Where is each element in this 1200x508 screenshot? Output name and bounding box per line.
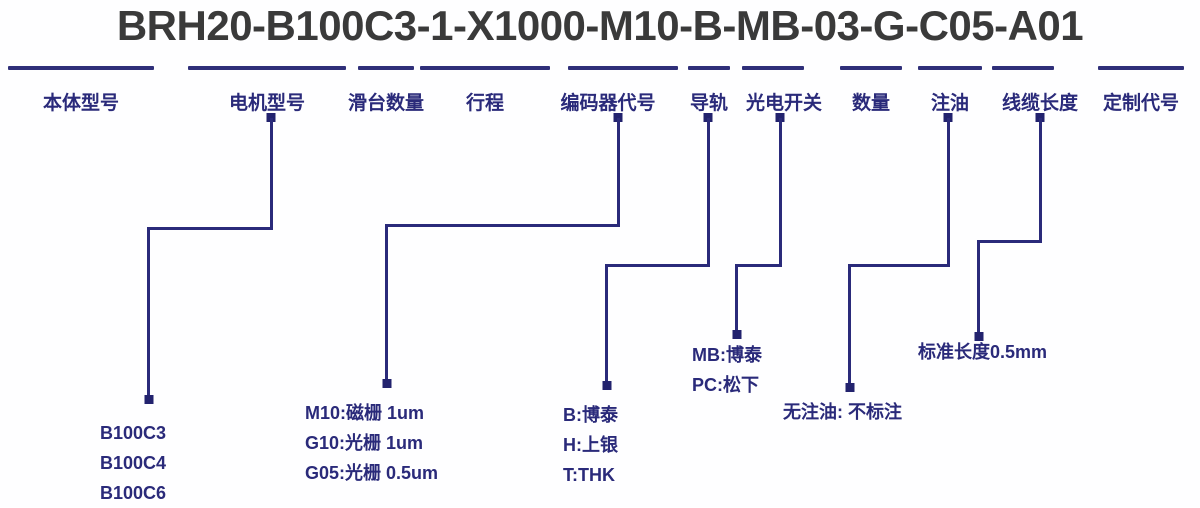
leader-motor-model-v2	[147, 227, 150, 400]
encoder-code-option-3: T:THK	[563, 460, 618, 490]
leader-rail-h1	[605, 264, 710, 267]
motor-model-option-1: M10:磁栅 1um	[305, 398, 438, 428]
body-model-option-1: B100C3	[100, 418, 166, 448]
leader-motor-model-h1	[147, 227, 273, 230]
model-number-breakdown-diagram: BRH20-B100C3-1-X1000-M10-B-MB-03-G-C05-A…	[0, 0, 1200, 507]
encoder-code-option-2: H:上银	[563, 430, 618, 460]
leader-cable-h1	[977, 240, 1042, 243]
leader-photo-h1	[735, 264, 782, 267]
rule-oiling	[918, 66, 982, 70]
group-label-quantity: 数量	[852, 88, 890, 115]
rule-body-model	[8, 66, 154, 70]
rule-encoder-code	[568, 66, 678, 70]
leader-encoder-h1	[385, 224, 620, 227]
group-label-oiling: 注油	[931, 88, 969, 115]
rule-custom-code	[1098, 66, 1184, 70]
motor-model-option-2: G10:光栅 1um	[305, 428, 438, 458]
rule-quantity	[840, 66, 902, 70]
leader-cap-encoder-end	[383, 379, 392, 388]
description-photo-switch: 无注油: 不标注	[783, 397, 902, 427]
body-model-option-2: B100C4	[100, 448, 166, 478]
description-encoder-code: B:博泰 H:上银 T:THK	[563, 400, 618, 490]
leader-cap-motor-model-end	[145, 395, 154, 404]
group-label-encoder-code: 编码器代号	[560, 88, 655, 115]
group-label-custom-code: 定制代号	[1103, 88, 1179, 115]
rule-cable-length	[992, 66, 1054, 70]
description-guide-rail: MB:博泰 PC:松下	[692, 340, 762, 400]
rule-photo-switch	[742, 66, 804, 70]
encoder-code-option-1: B:博泰	[563, 400, 618, 430]
rule-stroke	[420, 66, 550, 70]
leader-oiling-h1	[848, 264, 950, 267]
motor-model-option-3: G05:光栅 0.5um	[305, 458, 438, 488]
rule-motor-model	[188, 66, 346, 70]
photo-switch-note: 无注油: 不标注	[783, 397, 902, 427]
description-motor-model: M10:磁栅 1um G10:光栅 1um G05:光栅 0.5um	[305, 398, 438, 488]
leader-photo-v2	[735, 264, 738, 332]
group-label-cable-length: 线缆长度	[1002, 88, 1078, 115]
group-label-motor-model: 电机型号	[229, 88, 305, 115]
group-label-guide-rail: 导轨	[690, 88, 728, 115]
leader-cap-oiling-end	[846, 383, 855, 392]
leader-encoder-v1	[617, 118, 620, 226]
rule-guide-rail	[688, 66, 730, 70]
leader-rail-v2	[605, 264, 608, 385]
rule-slide-count	[358, 66, 414, 70]
cable-length-note: 标准长度0.5mm	[918, 337, 1047, 367]
leader-motor-model-v1	[270, 118, 273, 229]
group-label-photo-switch: 光电开关	[746, 88, 822, 115]
leader-oiling-v2	[848, 264, 851, 386]
model-number-title: BRH20-B100C3-1-X1000-M10-B-MB-03-G-C05-A…	[0, 2, 1200, 50]
leader-rail-v1	[707, 118, 710, 266]
guide-rail-option-1: MB:博泰	[692, 340, 762, 370]
leader-cap-photo-end	[733, 330, 742, 339]
leader-cable-v1	[1039, 118, 1042, 242]
description-cable-length: 标准长度0.5mm	[918, 337, 1047, 367]
leader-cable-v2	[977, 240, 980, 335]
leader-cap-rail-end	[603, 381, 612, 390]
body-model-option-3: B100C6	[100, 478, 166, 508]
description-body-model: B100C3 B100C4 B100C6	[100, 418, 166, 508]
group-label-slide-count: 滑台数量	[348, 88, 424, 115]
leader-photo-v1	[779, 118, 782, 266]
guide-rail-option-2: PC:松下	[692, 370, 762, 400]
group-label-body-model: 本体型号	[43, 88, 119, 115]
group-label-stroke: 行程	[466, 88, 504, 115]
leader-encoder-v2	[385, 224, 388, 382]
leader-oiling-v1	[947, 118, 950, 266]
